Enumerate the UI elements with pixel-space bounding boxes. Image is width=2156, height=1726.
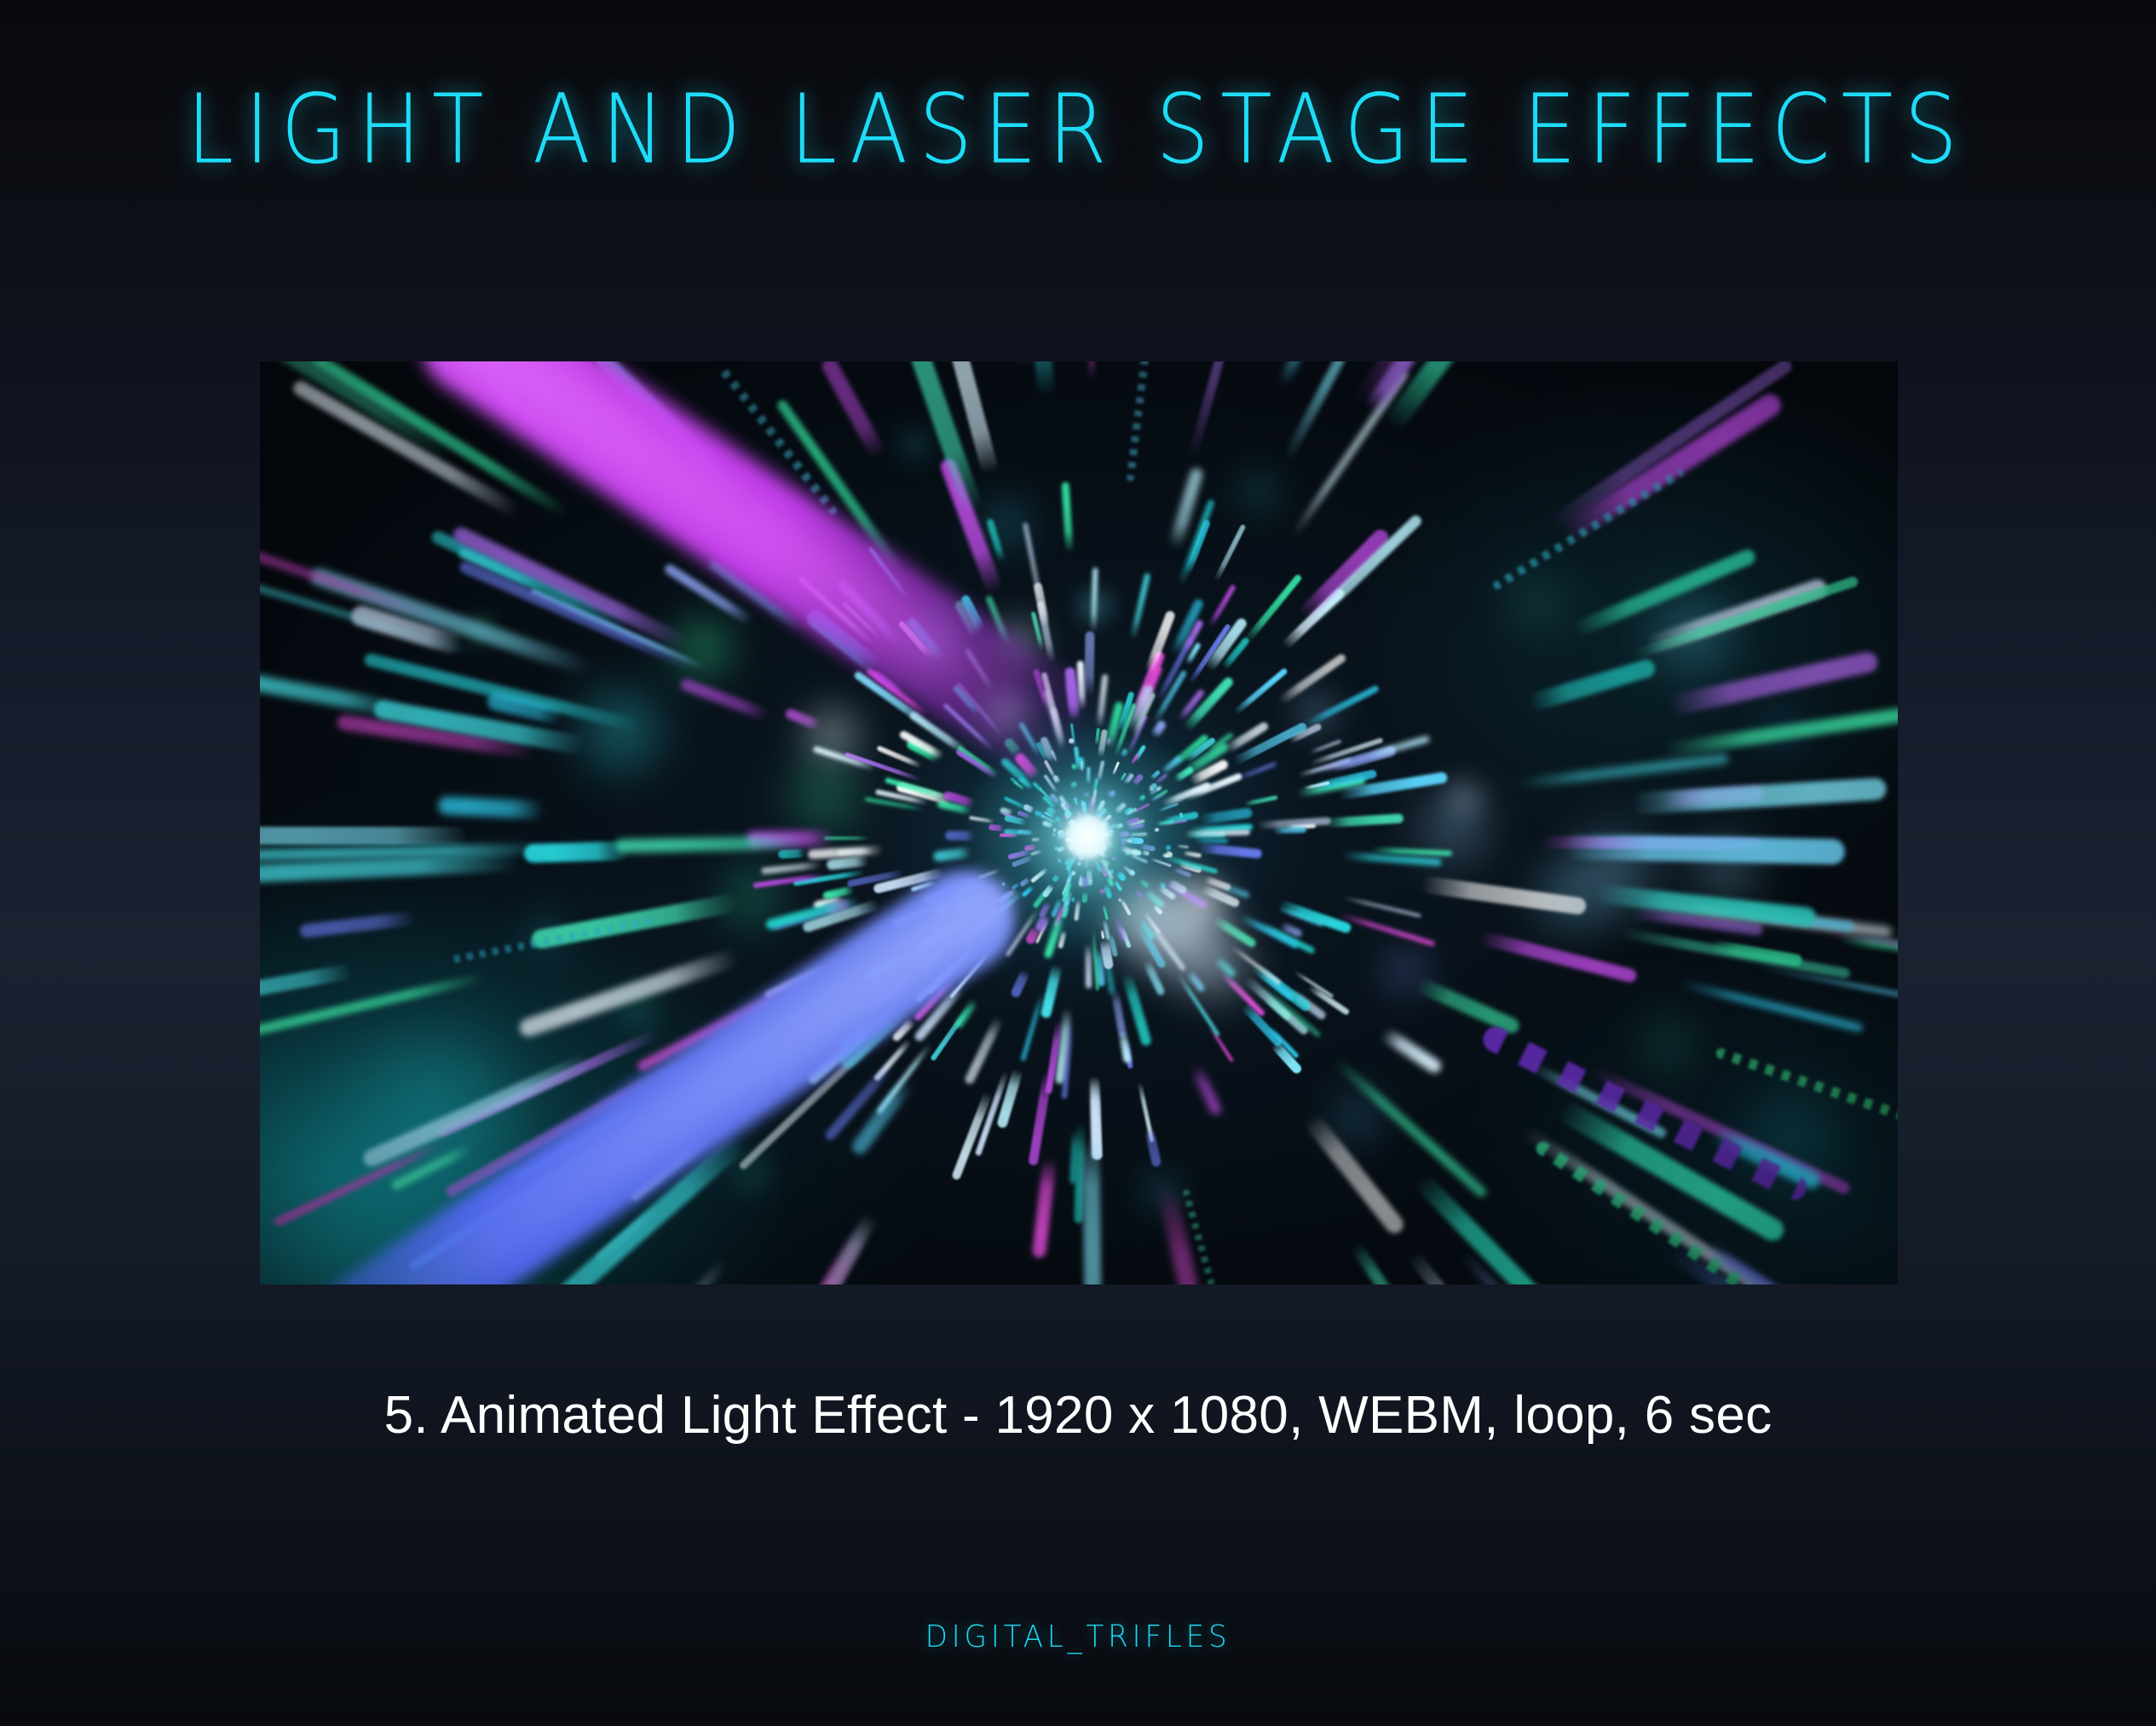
page-title: LIGHT AND LASER STAGE EFFECTS — [187, 80, 1969, 181]
preview-image[interactable] — [260, 361, 1898, 1284]
page-title-container: LIGHT AND LASER STAGE EFFECTS — [0, 82, 2156, 178]
brand-watermark: DIGITAL_TRIFLES — [54, 1619, 2102, 1654]
poster-root: { "page": { "background_top": "#090a0d",… — [0, 0, 2156, 1726]
preview-caption: 5. Animated Light Effect - 1920 x 1080, … — [0, 1385, 2156, 1446]
